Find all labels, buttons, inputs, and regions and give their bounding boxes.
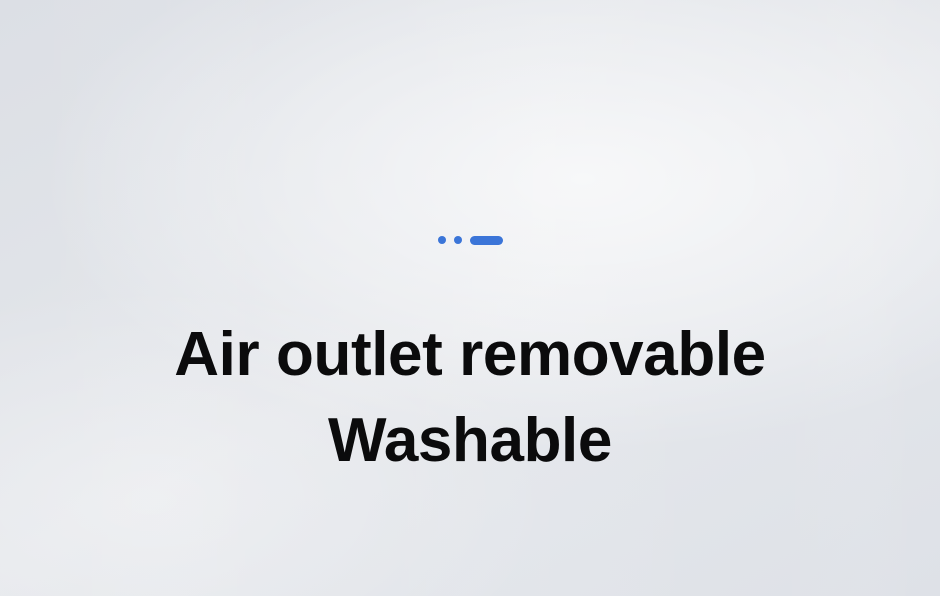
banner-content: Air outlet removable Washable	[0, 0, 940, 596]
headline-line-1: Air outlet removable	[40, 312, 900, 398]
promo-banner: Air outlet removable Washable	[0, 0, 940, 596]
accent-dot-icon	[438, 236, 446, 244]
headline-line-2: Washable	[40, 398, 900, 484]
accent-marker	[438, 234, 503, 246]
banner-headline: Air outlet removable Washable	[40, 312, 900, 484]
accent-bar-icon	[470, 236, 503, 245]
accent-dot-icon	[454, 236, 462, 244]
